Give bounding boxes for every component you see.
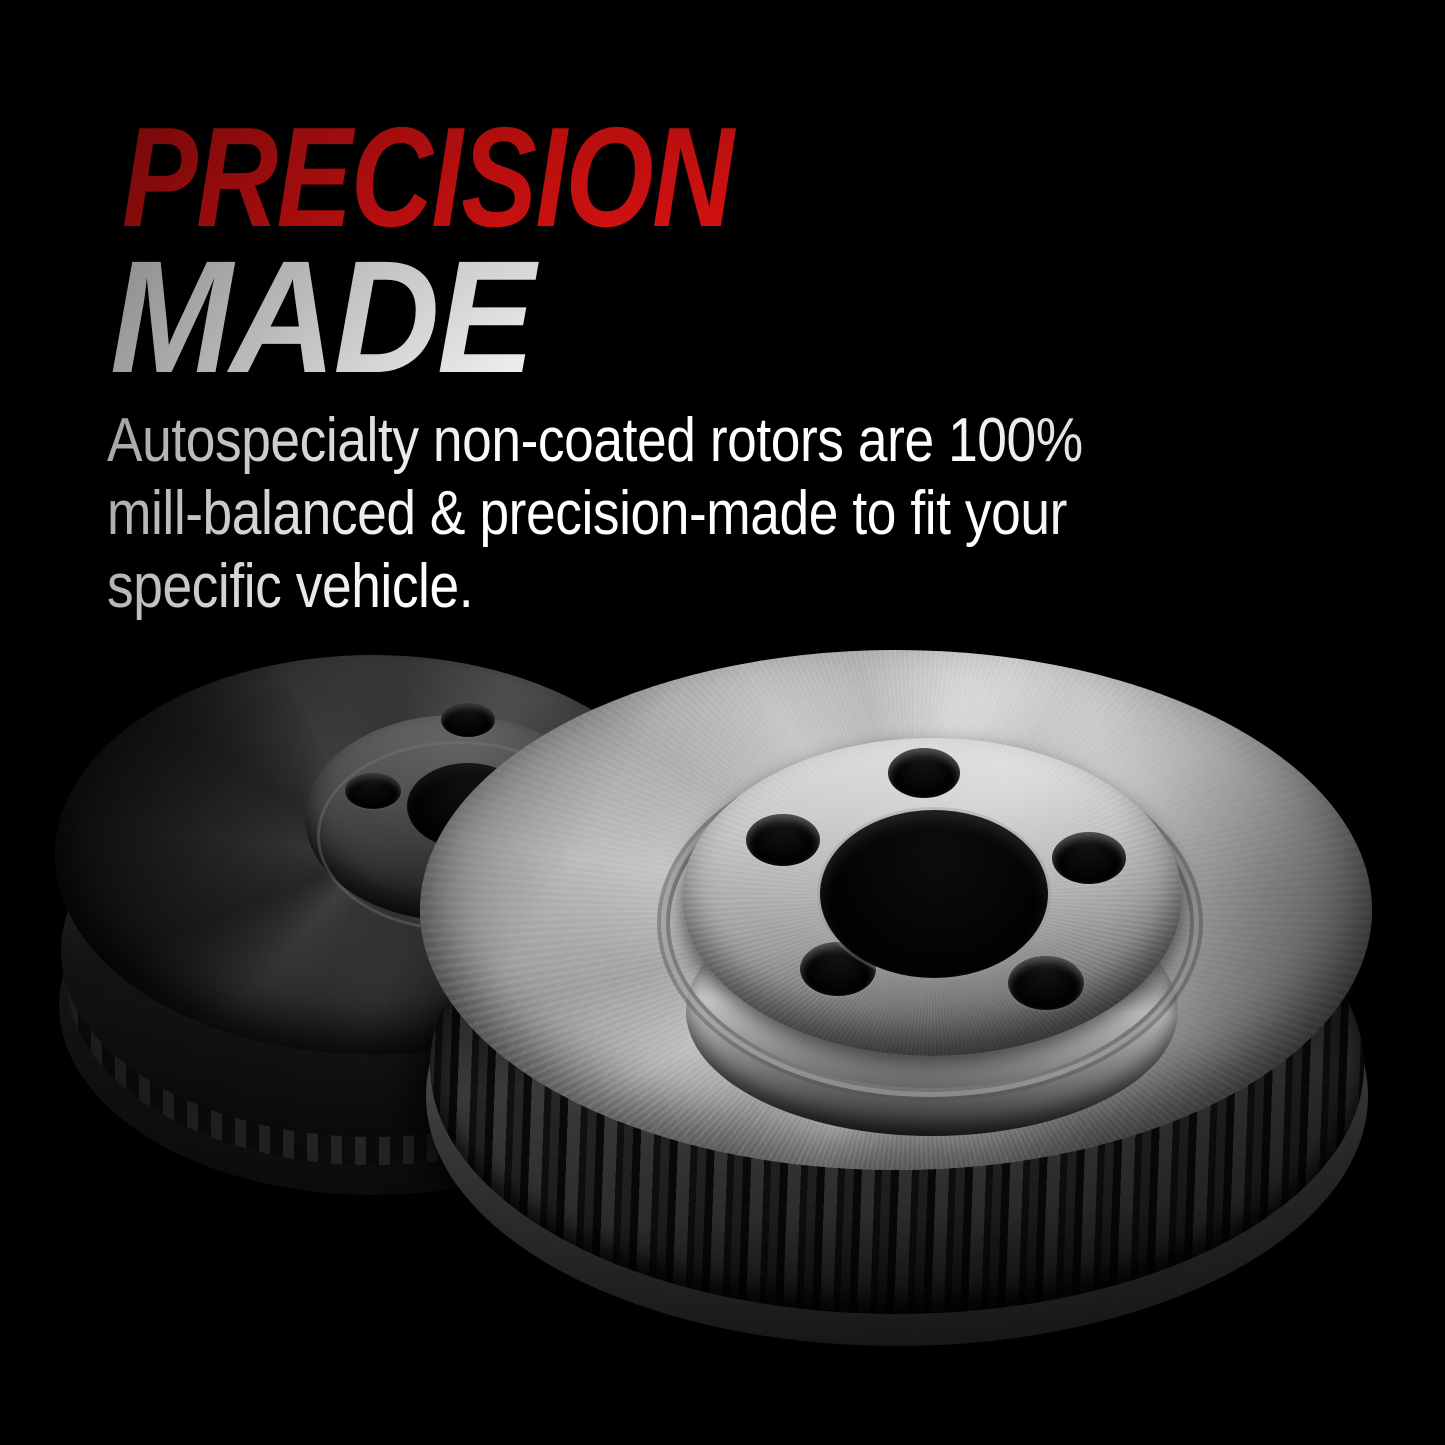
front-rotor-center-bore xyxy=(820,810,1048,978)
front-rotor-lug-hole xyxy=(1008,956,1084,1010)
front-brake-rotor xyxy=(420,650,1375,1370)
front-rotor-lug-hole xyxy=(746,814,820,866)
body-line-3: specific vehicle. xyxy=(107,550,1191,623)
marketing-copy-block: PRECISION MADE Autospecialty non-coated … xyxy=(0,0,1445,640)
body-line-1: Autospecialty non-coated rotors are 100% xyxy=(107,404,1191,477)
headline-made: MADE xyxy=(110,238,532,396)
promo-banner: PRECISION MADE Autospecialty non-coated … xyxy=(0,0,1445,1445)
rear-rotor-lug-hole xyxy=(345,773,401,809)
body-line-2: mill-balanced & precision-made to fit yo… xyxy=(107,477,1191,550)
front-rotor-lug-hole xyxy=(1052,832,1126,884)
body-paragraph: Autospecialty non-coated rotors are 100%… xyxy=(107,404,1191,623)
front-rotor-lug-hole xyxy=(888,748,960,798)
